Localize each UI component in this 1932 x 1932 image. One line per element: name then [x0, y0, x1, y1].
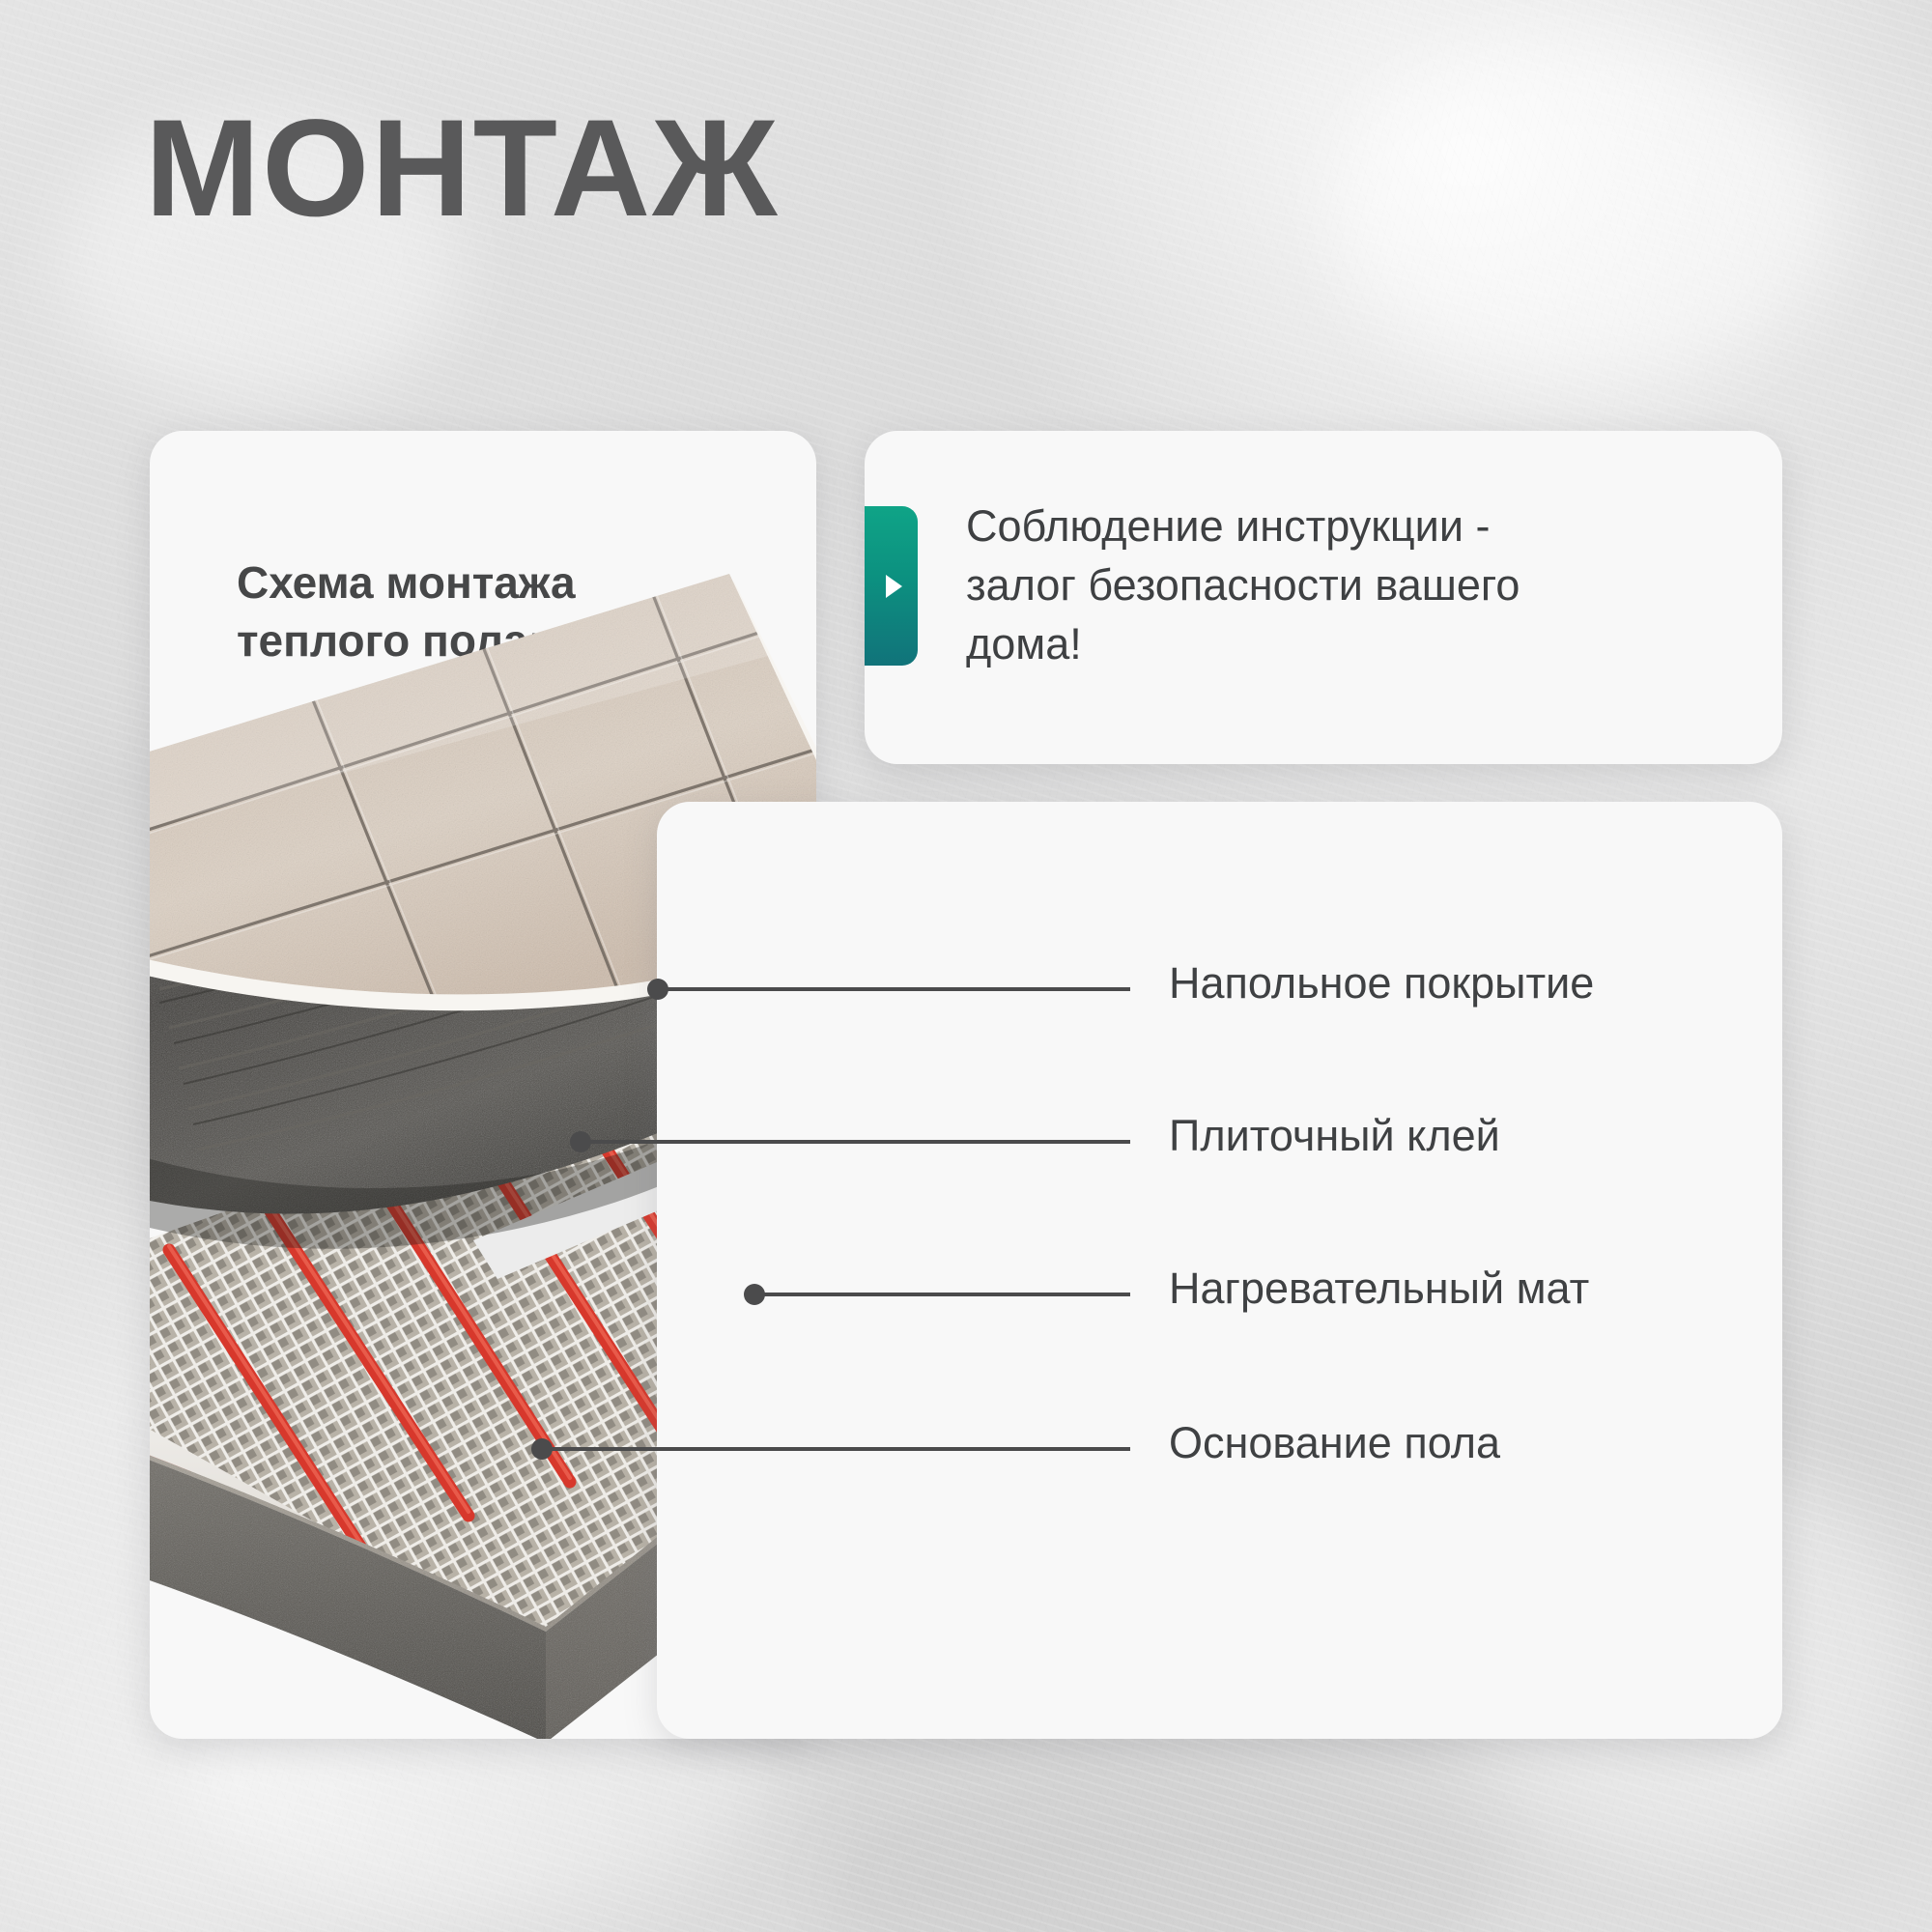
- note-line-2: залог безопасности вашего: [966, 555, 1719, 614]
- scheme-heading-line-2: теплого пола:: [237, 612, 739, 670]
- leader-line: [541, 1447, 1130, 1451]
- leader-line: [580, 1140, 1130, 1144]
- layer-label-heating-mat: Нагревательный мат: [1169, 1264, 1589, 1314]
- layer-row: Основание пола: [657, 1422, 1782, 1476]
- play-triangle-icon: [865, 506, 918, 666]
- note-line-3: дома!: [966, 614, 1719, 673]
- note-line-1: Соблюдение инструкции -: [966, 497, 1719, 555]
- leader-line: [657, 987, 1130, 991]
- layer-row: Нагревательный мат: [657, 1267, 1782, 1321]
- scheme-card-heading: Схема монтажа теплого пола:: [237, 554, 739, 670]
- layer-label-tile-adhesive: Плиточный клей: [1169, 1111, 1500, 1161]
- layer-label-floor-covering: Напольное покрытие: [1169, 958, 1594, 1009]
- layer-row: Плиточный клей: [657, 1115, 1782, 1169]
- triangle-glyph: [886, 575, 902, 598]
- page-title: МОНТАЖ: [145, 95, 779, 243]
- instruction-note-card: Соблюдение инструкции - залог безопаснос…: [865, 431, 1782, 764]
- layer-row: Напольное покрытие: [657, 962, 1782, 1016]
- layer-labels-card: Напольное покрытие Плиточный клей Нагрев…: [657, 802, 1782, 1739]
- instruction-note-text: Соблюдение инструкции - залог безопаснос…: [966, 497, 1719, 674]
- layer-label-floor-base: Основание пола: [1169, 1418, 1500, 1468]
- scheme-heading-line-1: Схема монтажа: [237, 554, 739, 612]
- leader-line: [753, 1293, 1130, 1296]
